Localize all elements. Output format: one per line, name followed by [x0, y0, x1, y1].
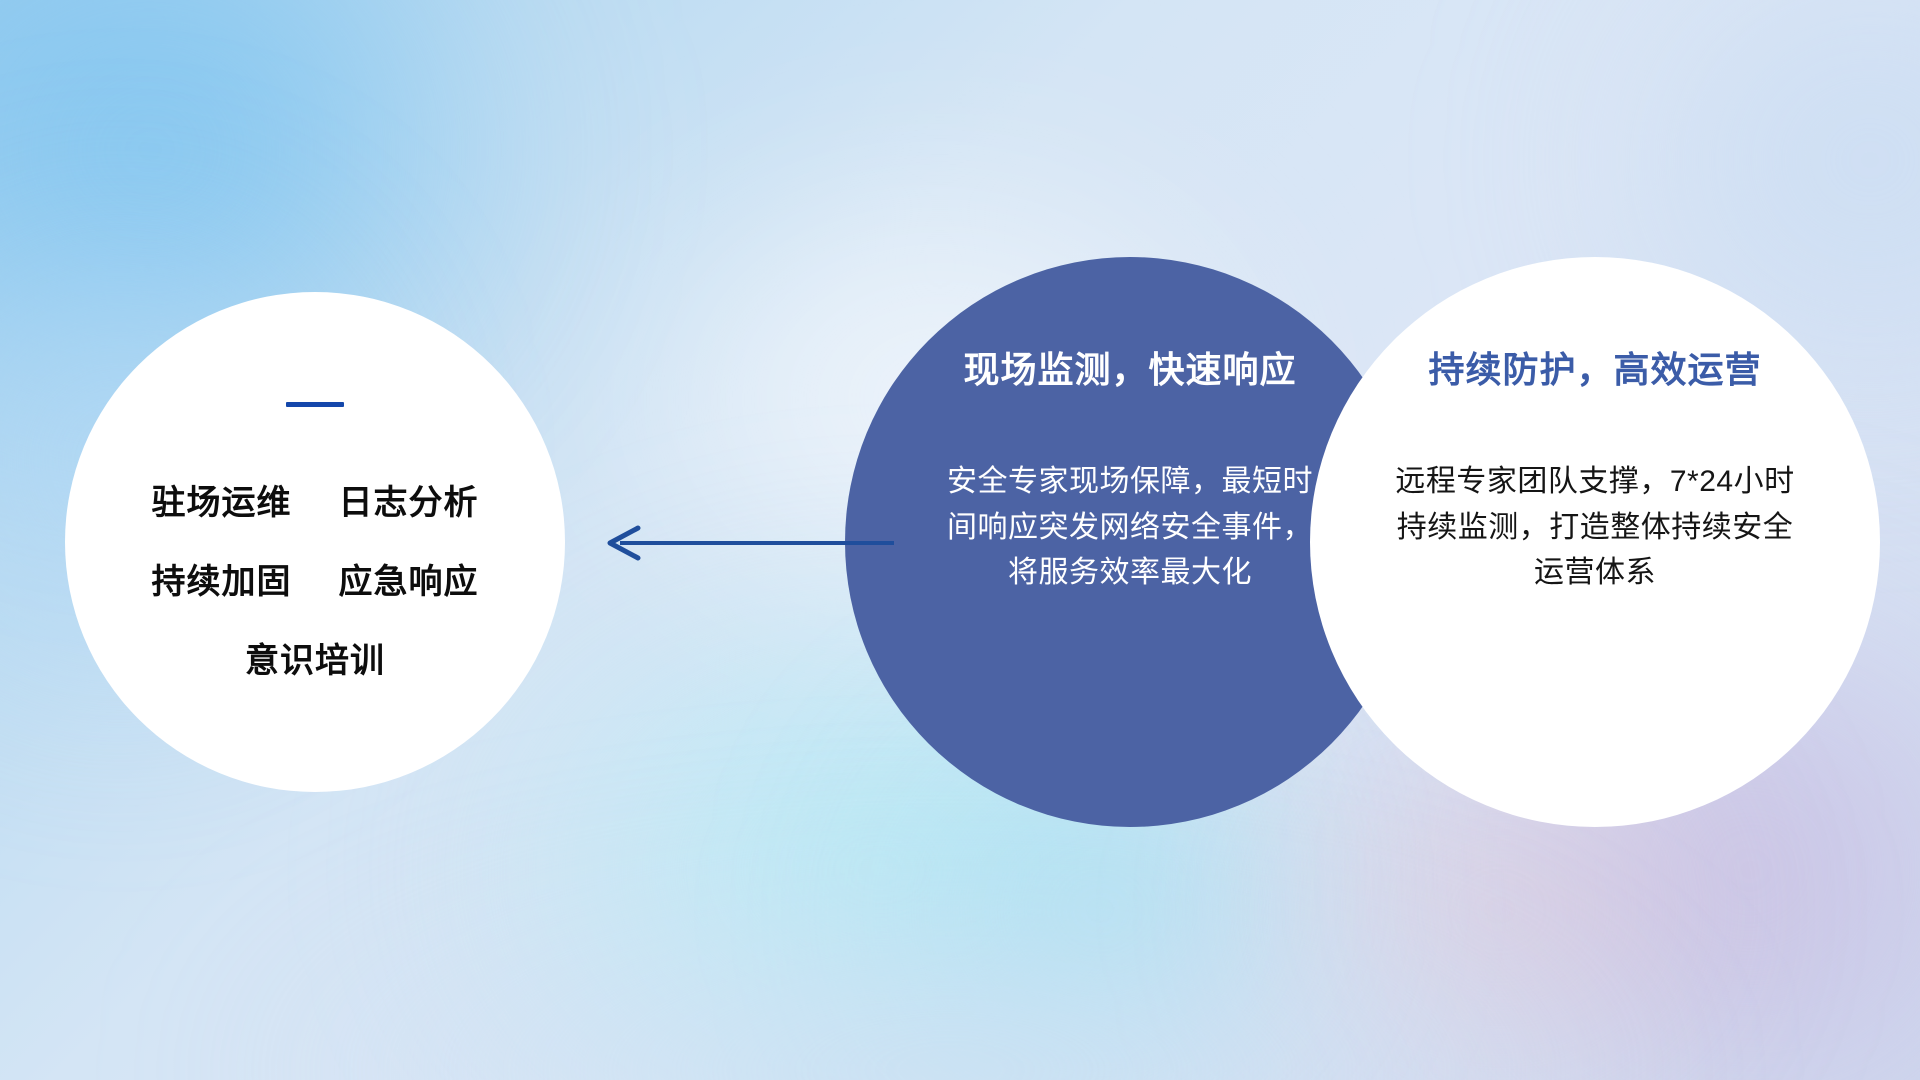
- keyword-primary: 持续加固: [152, 563, 292, 601]
- middle-circle-body: 安全专家现场保障，最短时间响应突发网络安全事件，将服务效率最大化: [935, 459, 1325, 596]
- keyword-primary: 意识培训: [245, 642, 385, 680]
- list-item: 驻场运维 日志分析: [152, 475, 479, 524]
- keyword-primary: 驻场运维: [152, 484, 292, 522]
- divider-dash: [286, 402, 344, 407]
- keyword-secondary: 应急响应: [338, 563, 478, 601]
- middle-circle-title: 现场监测，快速响应: [963, 341, 1296, 393]
- right-circle-title: 持续防护，高效运营: [1428, 341, 1761, 393]
- keyword-secondary: 日志分析: [338, 484, 478, 522]
- list-item: 持续加固 应急响应: [152, 554, 479, 603]
- left-arrow-icon: [598, 520, 898, 566]
- right-circle-body: 远程专家团队支撑，7*24小时持续监测，打造整体持续安全运营体系: [1385, 459, 1805, 596]
- list-item: 意识培训: [245, 633, 385, 682]
- left-keyword-list: 驻场运维 日志分析 持续加固 应急响应 意识培训: [152, 475, 479, 682]
- right-highlight-circle[interactable]: 持续防护，高效运营 远程专家团队支撑，7*24小时持续监测，打造整体持续安全运营…: [1310, 257, 1880, 827]
- slide-canvas: 驻场运维 日志分析 持续加固 应急响应 意识培训 现场监测，快速响应 安全专家现…: [0, 0, 1920, 1080]
- left-keywords-circle[interactable]: 驻场运维 日志分析 持续加固 应急响应 意识培训: [65, 292, 565, 792]
